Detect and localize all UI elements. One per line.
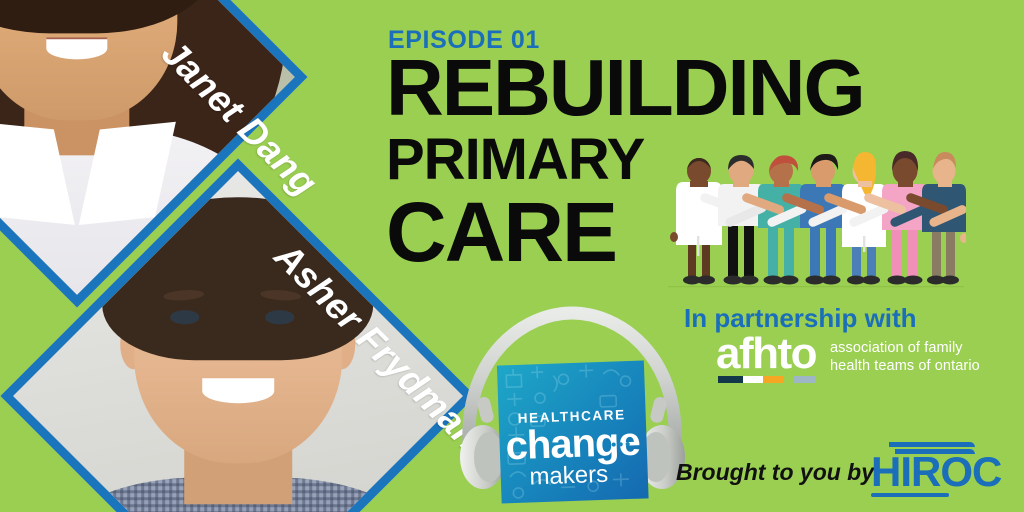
- afhto-wordmark: afhto: [716, 332, 816, 376]
- podcast-cover-artwork: HEALTHCARE change makers: [455, 305, 690, 510]
- afhto-bar-3: [763, 376, 785, 383]
- afhto-bar-gap: [784, 376, 794, 383]
- afhto-logo: afhto association of family health teams…: [716, 336, 1006, 384]
- page-title-line-3: CARE: [386, 196, 616, 268]
- brought-to-you-by-label: Brought to you by: [676, 459, 874, 486]
- page-title-line-1: REBUILDING: [386, 54, 864, 123]
- afhto-bar-1: [718, 376, 743, 383]
- afhto-tagline-line-2: health teams of ontario: [830, 358, 980, 376]
- speech-bubble-dots: [612, 442, 630, 447]
- headphones-with-album-cover-icon: HEALTHCARE change makers: [455, 305, 690, 510]
- photo-detail-smile: [202, 378, 274, 403]
- afhto-bar-4: [794, 376, 816, 383]
- hiroc-logo: HIROC: [871, 441, 996, 497]
- afhto-tagline-line-1: association of family: [830, 340, 980, 358]
- cover-line-makers: makers: [529, 461, 609, 491]
- hiroc-underline: [871, 493, 949, 497]
- hiroc-swoosh-top: [889, 442, 975, 447]
- healthcare-workers-illustration: [666, 140, 966, 290]
- hiroc-wordmark: HIROC: [871, 451, 1001, 493]
- person-1-doctor-white-coat: [670, 158, 722, 285]
- photo-detail-eye-left: [170, 310, 199, 324]
- afhto-color-bars: [718, 376, 816, 383]
- page-title-line-2: PRIMARY: [386, 135, 644, 185]
- promo-graphic-canvas: Janet Dang Asher Frydman EPISODE 01 REBU…: [0, 0, 1024, 512]
- healthcare-workers-icon: [666, 140, 966, 290]
- afhto-tagline: association of family health teams of on…: [830, 340, 980, 375]
- photo-detail-eye-right: [265, 310, 294, 324]
- afhto-bar-2: [743, 376, 763, 383]
